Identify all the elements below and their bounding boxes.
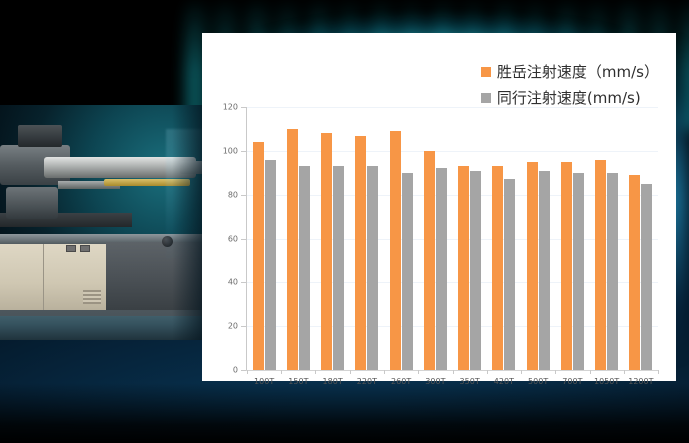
x-axis-tick [281,370,282,374]
x-axis-tick-label: 420T [487,377,521,386]
x-axis-tick [555,370,556,374]
bar-series2[interactable] [470,171,481,370]
x-axis-tick-label: 500T [521,377,555,386]
y-axis-tick-label: 40 [228,278,238,287]
bar-group [418,107,452,370]
x-axis-tick [350,370,351,374]
bar-group [316,107,350,370]
bar-series2[interactable] [573,173,584,370]
x-axis-tick-label: 350T [453,377,487,386]
bar-group [350,107,384,370]
bar-group [453,107,487,370]
bar-series2[interactable] [436,168,447,370]
bar-series2[interactable] [607,173,618,370]
bar-groups [247,107,658,370]
x-axis-tick-label: 1200T [624,377,658,386]
legend-swatch-gray [481,93,491,103]
bar-series1[interactable] [355,136,366,371]
x-axis-ticks [247,370,658,375]
bar-series1[interactable] [253,142,264,370]
x-axis-tick [487,370,488,374]
bar-group [384,107,418,370]
y-axis-tick-label: 20 [228,322,238,331]
bar-group [590,107,624,370]
slide-canvas: 胜岳注射速度（mm/s）同行注射速度(mm/s) 100T150T180T220… [0,0,689,443]
chart-legend: 胜岳注射速度（mm/s）同行注射速度(mm/s) [481,61,659,113]
x-axis-tick [453,370,454,374]
x-axis-tick-label: 260T [384,377,418,386]
bar-group [487,107,521,370]
bar-group [624,107,658,370]
bar-group [555,107,589,370]
x-axis-tick [247,370,248,374]
x-axis-tick-label: 180T [316,377,350,386]
bar-series1[interactable] [321,133,332,370]
bar-series1[interactable] [595,160,606,370]
bar-series2[interactable] [299,166,310,370]
x-axis-tick [315,370,316,374]
chart-plot-area: 100T150T180T220T260T300T350T420T500T700T… [246,107,658,370]
bar-series2[interactable] [539,171,550,370]
bar-series1[interactable] [527,162,538,370]
legend-swatch-orange [481,67,491,77]
x-axis-tick-label: 100T [247,377,281,386]
y-axis-tick-label: 100 [223,146,238,155]
chart-panel: 胜岳注射速度（mm/s）同行注射速度(mm/s) 100T150T180T220… [202,33,676,381]
bar-series1[interactable] [287,129,298,370]
bar-group [281,107,315,370]
bar-series1[interactable] [561,162,572,370]
legend-item-label: 胜岳注射速度（mm/s） [497,61,659,82]
x-axis-tick [590,370,591,374]
y-axis-tick [241,151,246,152]
x-axis-tick-label: 220T [350,377,384,386]
y-axis-tick-label: 60 [228,234,238,243]
x-axis-tick [624,370,625,374]
bar-group [521,107,555,370]
y-axis-tick [241,107,246,108]
x-axis-tick-label: 700T [555,377,589,386]
x-axis-labels: 100T150T180T220T260T300T350T420T500T700T… [247,377,658,386]
x-axis-tick-label: 300T [418,377,452,386]
y-axis-tick [241,282,246,283]
y-axis-tick-label: 0 [233,366,238,375]
bar-series1[interactable] [458,166,469,370]
injection-molding-machine-photo [0,105,212,340]
bar-series2[interactable] [504,179,515,370]
y-axis-tick [241,326,246,327]
x-axis-tick-label: 150T [281,377,315,386]
background-bottom-vignette [0,383,689,443]
y-axis-tick-label: 120 [223,103,238,112]
background-dark-top-left [0,0,210,110]
legend-item-label: 同行注射速度(mm/s) [497,87,641,108]
y-axis-tick [241,239,246,240]
legend-item[interactable]: 同行注射速度(mm/s) [481,87,659,108]
x-axis-tick [521,370,522,374]
y-axis-tick-label: 80 [228,190,238,199]
bar-series1[interactable] [390,131,401,370]
bar-series2[interactable] [333,166,344,370]
bar-series1[interactable] [629,175,640,370]
x-axis-tick [658,370,659,374]
legend-item[interactable]: 胜岳注射速度（mm/s） [481,61,659,82]
bar-series2[interactable] [367,166,378,370]
bar-group [247,107,281,370]
y-axis-tick [241,370,246,371]
bar-series2[interactable] [265,160,276,370]
y-axis-tick [241,195,246,196]
bar-series1[interactable] [424,151,435,370]
x-axis-tick-label: 1050T [590,377,624,386]
bar-series2[interactable] [402,173,413,370]
bar-series1[interactable] [492,166,503,370]
bar-series2[interactable] [641,184,652,370]
x-axis-tick [384,370,385,374]
x-axis-tick [418,370,419,374]
